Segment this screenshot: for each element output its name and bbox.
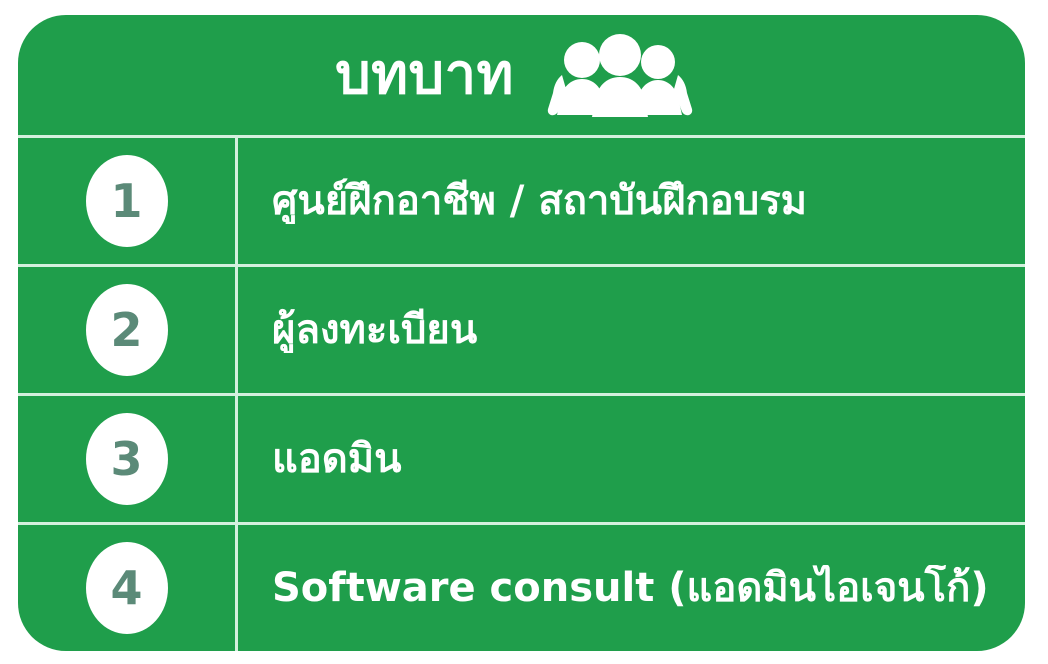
page-root: บทบาท [0,0,1048,664]
row-number-cell: 3 [18,396,238,522]
table-row[interactable]: 3 แอดมิน [18,396,1025,525]
card-header: บทบาท [18,15,1025,138]
row-label-cell: ผู้ลงทะเบียน [238,267,1025,393]
row-label: แอดมิน [272,436,402,482]
table-row[interactable]: 4 Software consult (แอดมินไอเจนโก้) [18,525,1025,651]
row-label-cell: แอดมิน [238,396,1025,522]
table-row[interactable]: 1 ศูนย์ฝึกอาชีพ / สถาบันฝึกอบรม [18,138,1025,267]
row-label: ศูนย์ฝึกอาชีพ / สถาบันฝึกอบรม [272,178,807,224]
row-number-badge: 2 [86,284,168,376]
row-number-cell: 4 [18,525,238,651]
roles-card: บทบาท [18,15,1025,651]
row-label: ผู้ลงทะเบียน [272,307,477,353]
row-number-badge: 4 [86,542,168,634]
roles-list: 1 ศูนย์ฝึกอาชีพ / สถาบันฝึกอบรม 2 ผู้ลงท… [18,138,1025,651]
row-number-cell: 1 [18,138,238,264]
group-people-icon [532,31,708,119]
row-number-badge: 1 [86,155,168,247]
row-number-cell: 2 [18,267,238,393]
row-label-cell: Software consult (แอดมินไอเจนโก้) [238,525,1025,651]
row-label-cell: ศูนย์ฝึกอาชีพ / สถาบันฝึกอบรม [238,138,1025,264]
page-title: บทบาท [335,47,514,103]
row-number-badge: 3 [86,413,168,505]
row-label: Software consult (แอดมินไอเจนโก้) [272,565,989,611]
table-row[interactable]: 2 ผู้ลงทะเบียน [18,267,1025,396]
